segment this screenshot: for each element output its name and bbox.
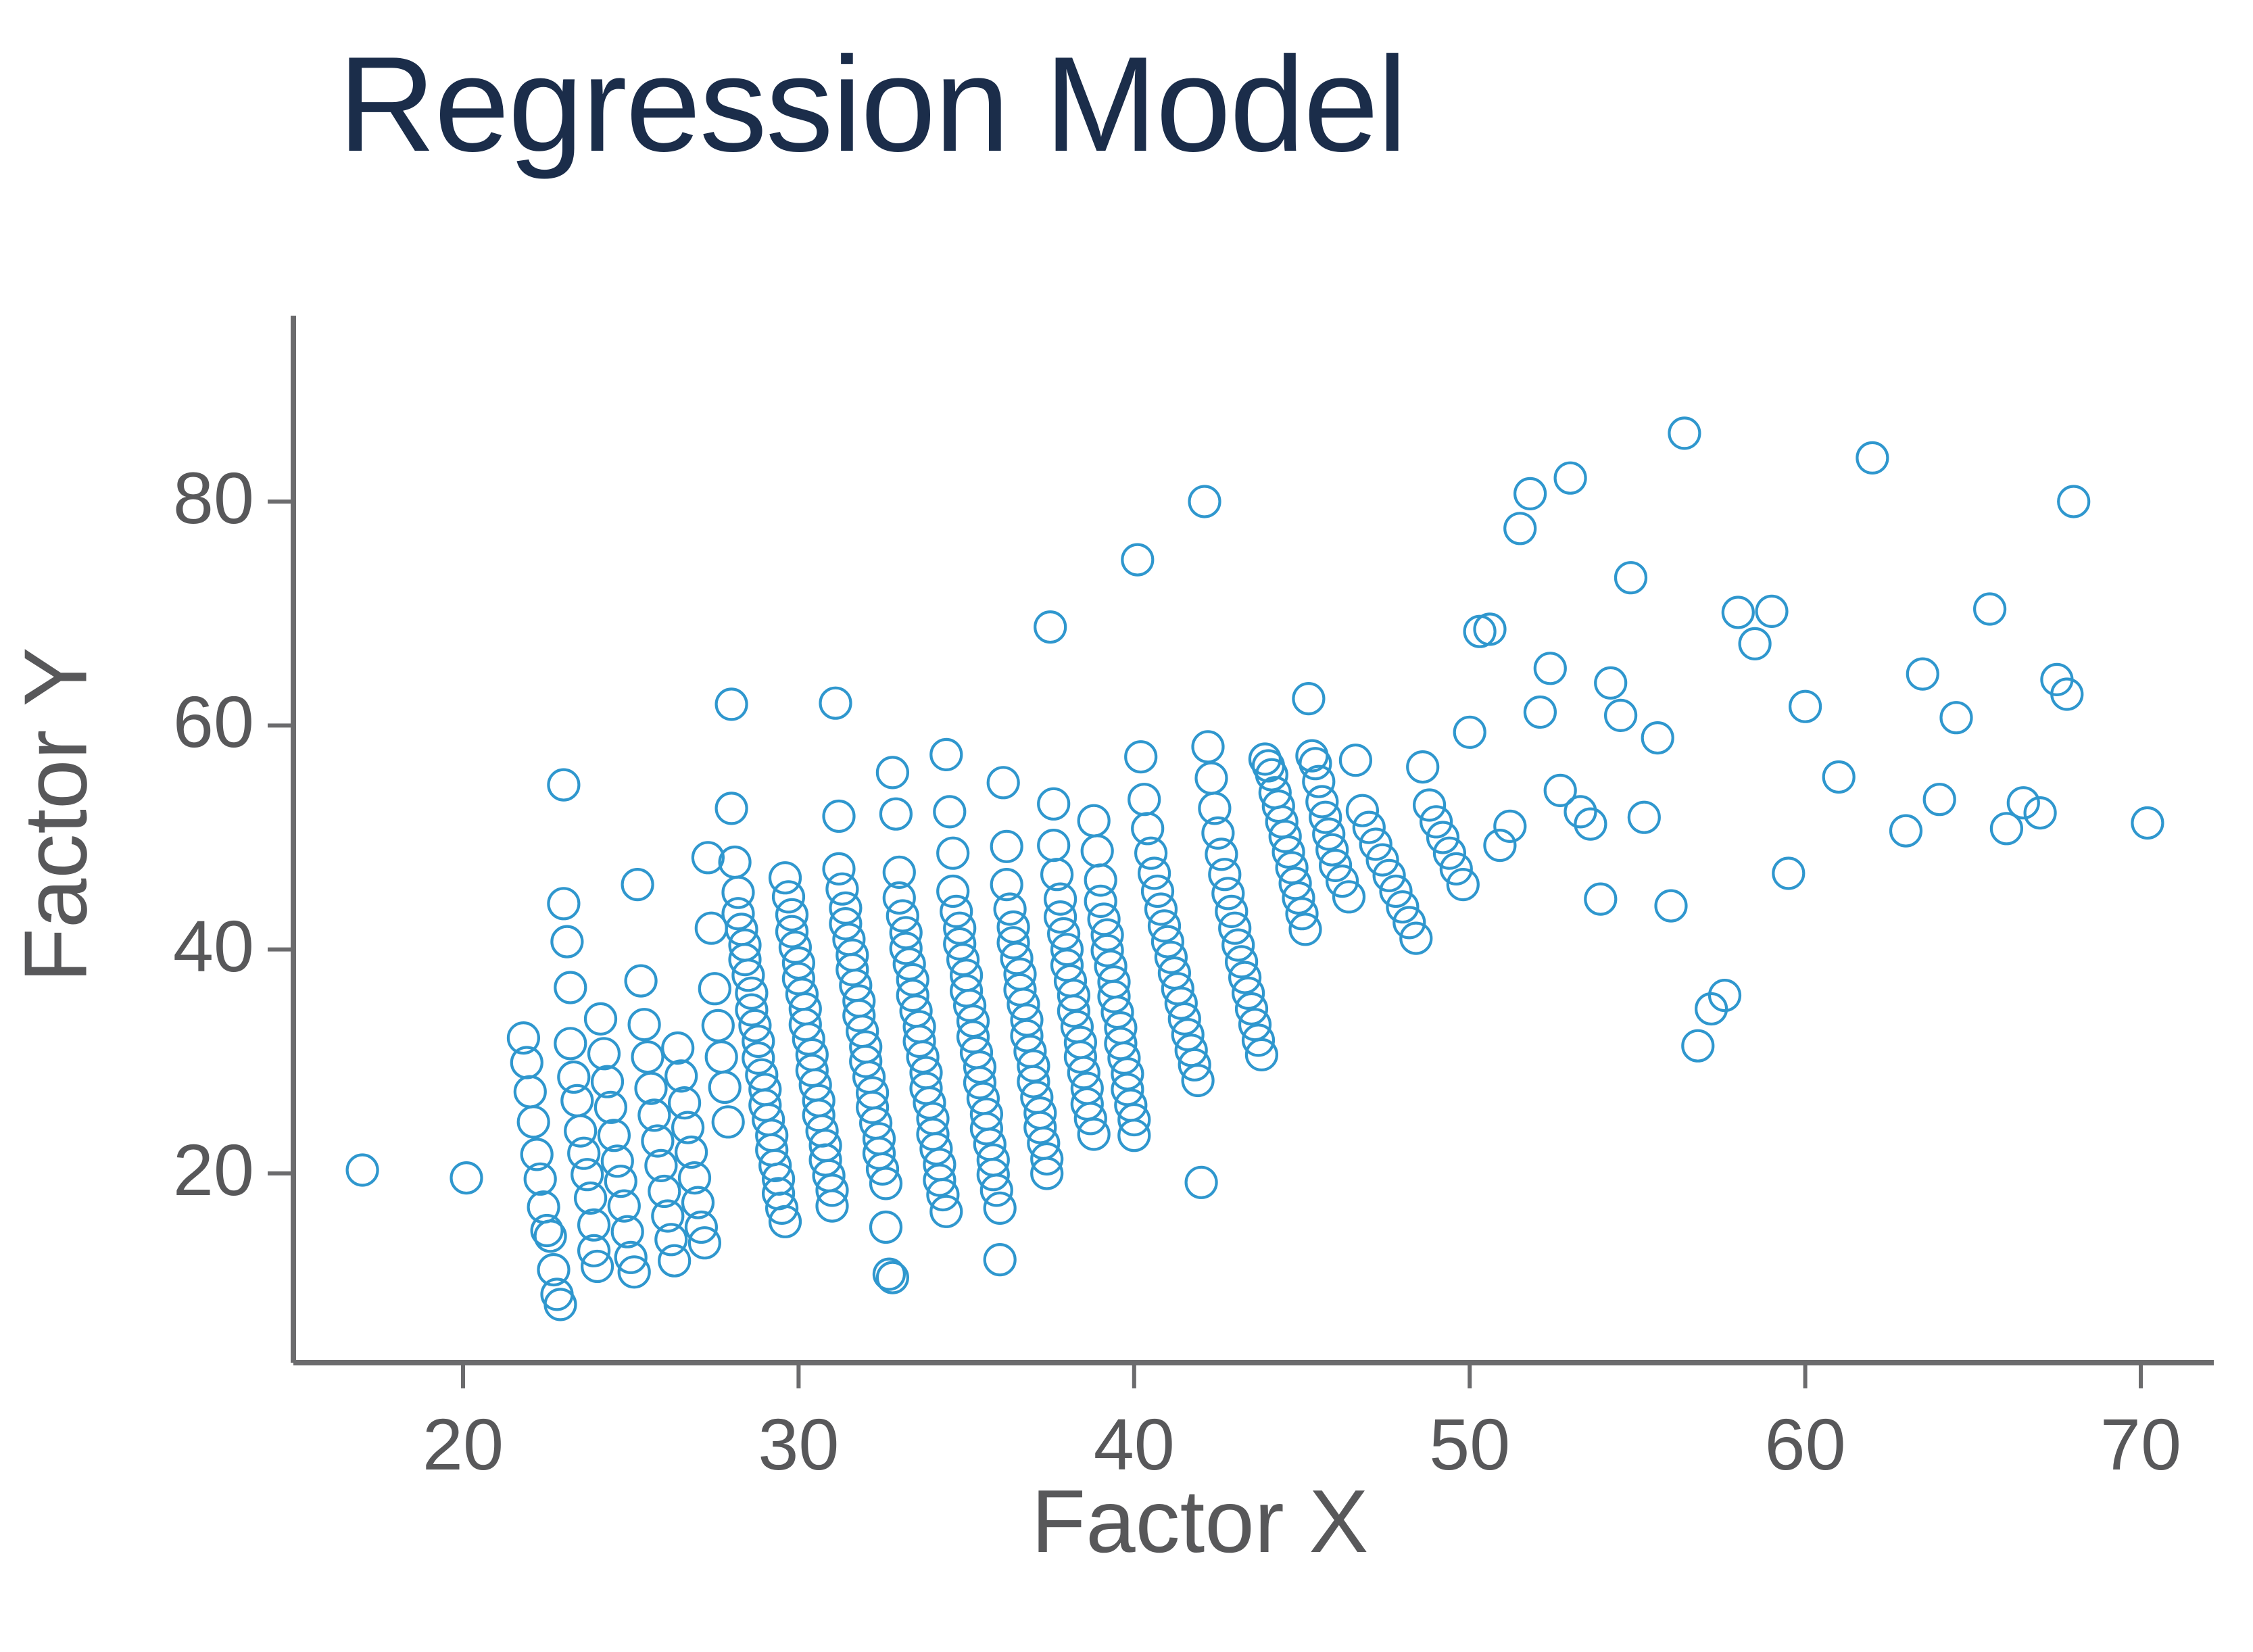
- scatter-point: [821, 688, 851, 719]
- scatter-point: [1038, 830, 1069, 860]
- scatter-point: [1790, 691, 1820, 722]
- scatter-point: [555, 973, 585, 1003]
- scatter-point: [713, 1107, 744, 1137]
- scatter-point: [1495, 811, 1525, 842]
- scatter-point: [1723, 598, 1753, 628]
- scatter-point: [1629, 802, 1660, 833]
- scatter-point: [548, 770, 579, 800]
- scatter-point: [736, 978, 767, 1009]
- scatter-point: [1079, 806, 1109, 836]
- scatter-point: [629, 1009, 660, 1040]
- scatter-point: [1515, 479, 1545, 509]
- scatter-point: [1669, 418, 1699, 448]
- scatter-point: [717, 793, 747, 823]
- scatter-point: [1555, 463, 1586, 493]
- scatter-point: [1193, 731, 1224, 762]
- scatter-point: [1891, 816, 1921, 846]
- scatter-point: [1857, 443, 1887, 473]
- scatter-chart-figure: Regression Model 203040506070 20406080 F…: [0, 0, 2253, 1652]
- scatter-point: [1924, 784, 1955, 815]
- scatter-point: [1505, 513, 1535, 543]
- scatter-point: [693, 842, 723, 873]
- scatter-point: [555, 1028, 585, 1059]
- scatter-point: [1975, 594, 2005, 625]
- scatter-point: [552, 927, 582, 957]
- scatter-point: [1190, 487, 1220, 517]
- scatter-point: [1740, 629, 1770, 659]
- scatter-point: [1616, 562, 1646, 593]
- scatter-point: [988, 767, 1019, 798]
- scatter-point: [938, 876, 968, 906]
- scatter-point: [1595, 668, 1626, 698]
- scatter-point: [1757, 596, 1787, 627]
- scatter-point: [1656, 891, 1687, 921]
- scatter-point: [696, 913, 727, 944]
- scatter-point: [518, 1107, 549, 1137]
- scatter-point: [1414, 790, 1445, 821]
- scatter-point: [2025, 798, 2056, 828]
- x-tick-label: 30: [731, 1402, 866, 1486]
- scatter-point: [2058, 487, 2089, 517]
- scatter-point: [562, 1086, 592, 1116]
- scatter-point: [871, 1212, 901, 1242]
- scatter-point: [985, 1244, 1015, 1275]
- scatter-point: [931, 1196, 961, 1227]
- scatter-point: [710, 1072, 740, 1102]
- scatter-point: [546, 1289, 576, 1319]
- scatter-point: [1082, 835, 1113, 866]
- scatter-point: [703, 1011, 733, 1041]
- scatter-point: [626, 966, 656, 996]
- scatter-point: [706, 1042, 737, 1072]
- scatter-point: [1585, 884, 1616, 915]
- y-axis-label: Factor Y: [5, 606, 107, 1025]
- scatter-point: [777, 900, 807, 930]
- x-tick-label: 60: [1738, 1402, 1873, 1486]
- scatter-point: [938, 838, 968, 869]
- scatter-point: [1682, 1031, 1713, 1061]
- scatter-point: [656, 1224, 686, 1255]
- scatter-point: [1129, 784, 1159, 815]
- scatter-point: [717, 689, 747, 719]
- scatter-point: [1038, 789, 1069, 819]
- scatter-point: [1941, 702, 1972, 733]
- scatter-point: [931, 739, 961, 770]
- scatter-point: [1122, 545, 1153, 575]
- scatter-point: [700, 973, 730, 1004]
- scatter-point: [877, 757, 908, 787]
- scatter-point: [1535, 653, 1566, 683]
- scatter-point: [1773, 858, 1803, 889]
- scatter-point: [1293, 683, 1324, 714]
- scatter-point: [1525, 697, 1555, 727]
- scatter-point: [934, 796, 965, 827]
- scatter-point: [1354, 812, 1384, 843]
- scatter-point: [589, 1038, 619, 1069]
- scatter-point: [659, 1246, 689, 1276]
- y-tick-label: 20: [78, 1127, 254, 1212]
- scatter-point: [1340, 745, 1371, 775]
- scatter-point: [568, 1138, 599, 1169]
- scatter-point: [662, 1033, 693, 1063]
- scatter-point: [1125, 742, 1156, 772]
- scatter-point: [1484, 830, 1515, 860]
- scatter-point: [585, 1004, 616, 1034]
- scatter-point: [2008, 787, 2039, 818]
- scatter-point: [1186, 1167, 1217, 1198]
- x-tick-label: 20: [395, 1402, 531, 1486]
- scatter-point: [623, 869, 653, 900]
- scatter-point: [1710, 980, 1740, 1011]
- scatter-point: [720, 847, 750, 877]
- scatter-point: [548, 888, 579, 919]
- scatter-point: [985, 1193, 1015, 1223]
- scatter-point: [1206, 839, 1236, 869]
- scatter-point: [2132, 808, 2162, 838]
- scatter-point: [1824, 762, 1854, 792]
- scatter-point: [1407, 752, 1438, 782]
- scatter-point: [992, 831, 1022, 862]
- scatter-point: [1605, 700, 1636, 731]
- scatter-point: [347, 1155, 378, 1186]
- scatter-point: [452, 1163, 482, 1193]
- scatter-point: [515, 1077, 546, 1107]
- x-tick-label: 70: [2073, 1402, 2208, 1486]
- y-axis-tick-marks: [268, 502, 293, 1173]
- scatter-point: [824, 854, 854, 884]
- scatter-point: [824, 801, 854, 831]
- y-tick-label: 80: [78, 456, 254, 540]
- axis-group: [293, 316, 2214, 1363]
- scatter-point: [881, 799, 911, 829]
- scatter-point: [1696, 994, 1726, 1024]
- scatter-point: [1347, 796, 1378, 826]
- x-axis-tick-marks: [463, 1363, 2141, 1388]
- scatter-point: [1035, 612, 1065, 642]
- scatter-point: [1643, 723, 1673, 753]
- scatter-point: [1908, 659, 1938, 689]
- scatter-points-group: [347, 418, 2163, 1319]
- scatter-point: [1455, 717, 1485, 748]
- scatter-point: [1196, 763, 1227, 794]
- x-axis-label: Factor X: [862, 1470, 1538, 1572]
- scatter-point: [633, 1042, 663, 1072]
